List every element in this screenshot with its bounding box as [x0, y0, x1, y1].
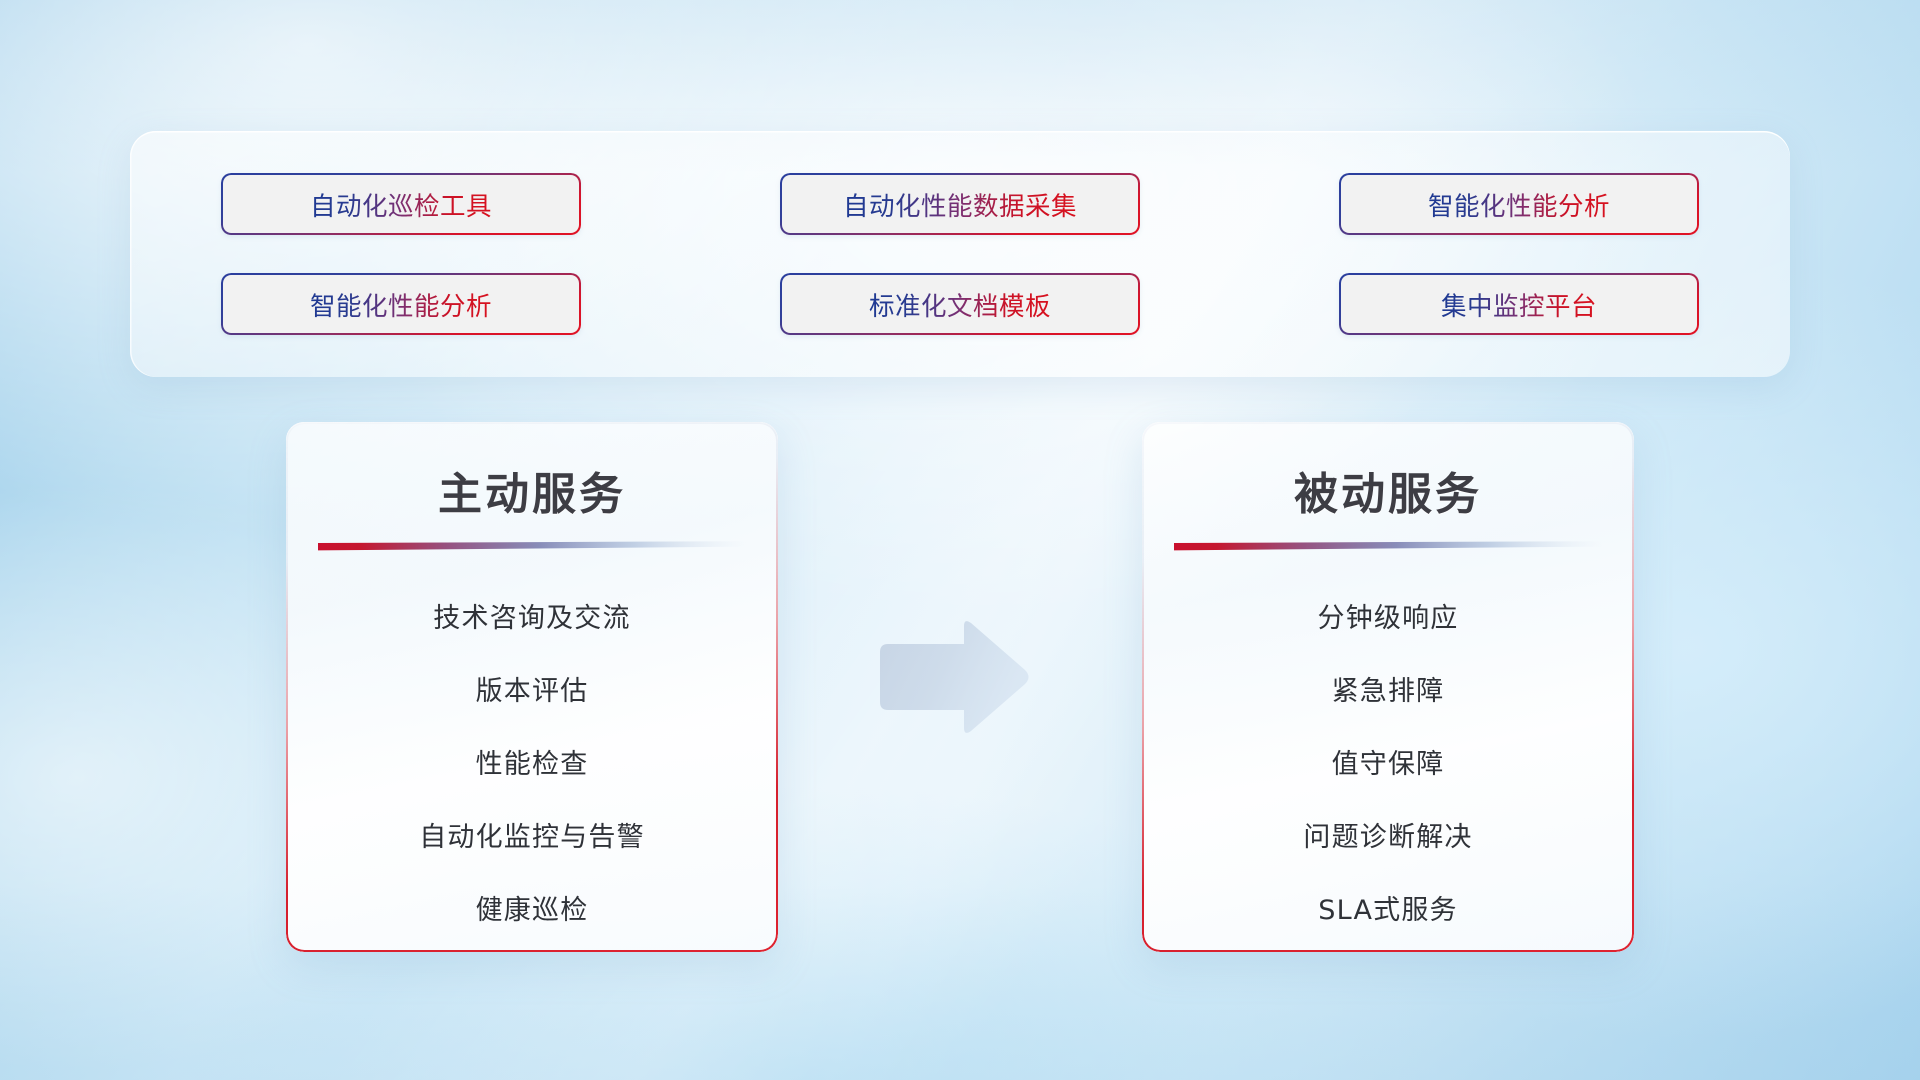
card-item-list: 分钟级响应 紧急排障 值守保障 问题诊断解决 SLA式服务 [1142, 582, 1634, 947]
capability-button-grid: 自动化巡检工具 自动化性能数据采集 智能化性能分析 智能化性能分析 标准化文档模… [221, 173, 1699, 335]
card-item-list: 技术咨询及交流 版本评估 性能检查 自动化监控与告警 健康巡检 [286, 582, 778, 947]
card-list-item: SLA式服务 [1318, 874, 1457, 947]
card-list-item: 值守保障 [1332, 728, 1445, 801]
capability-button-1[interactable]: 自动化巡检工具 [221, 173, 581, 235]
capability-button-label: 标准化文档模板 [869, 286, 1051, 323]
service-card-passive: 被动服务 分钟级响应 紧急排障 值守保障 问题诊断解决 SLA式服务 [1142, 422, 1634, 952]
capability-button-label: 集中监控平台 [1441, 286, 1597, 323]
card-title-divider [318, 540, 746, 551]
card-list-item: 紧急排障 [1332, 655, 1445, 728]
card-list-item: 健康巡检 [476, 874, 589, 947]
card-list-item: 技术咨询及交流 [433, 582, 630, 655]
capability-panel: 自动化巡检工具 自动化性能数据采集 智能化性能分析 智能化性能分析 标准化文档模… [130, 131, 1790, 377]
capability-button-4[interactable]: 智能化性能分析 [221, 273, 581, 335]
capability-button-label: 自动化巡检工具 [310, 186, 492, 223]
card-title-divider [1174, 540, 1602, 551]
capability-button-2[interactable]: 自动化性能数据采集 [780, 173, 1140, 235]
capability-button-6[interactable]: 集中监控平台 [1339, 273, 1699, 335]
capability-button-label: 智能化性能分析 [310, 286, 492, 323]
card-list-item: 性能检查 [476, 728, 589, 801]
card-list-item: 分钟级响应 [1318, 582, 1459, 655]
capability-button-label: 自动化性能数据采集 [843, 186, 1077, 223]
service-card-active: 主动服务 技术咨询及交流 版本评估 性能检查 自动化监控与告警 健康巡检 [286, 422, 778, 952]
capability-button-3[interactable]: 智能化性能分析 [1339, 173, 1699, 235]
card-list-item: 版本评估 [476, 655, 589, 728]
flow-arrow-right-icon [872, 618, 1032, 738]
card-list-item: 自动化监控与告警 [419, 801, 645, 874]
capability-button-5[interactable]: 标准化文档模板 [780, 273, 1140, 335]
card-title: 主动服务 [286, 458, 778, 522]
card-title: 被动服务 [1142, 458, 1634, 522]
card-list-item: 问题诊断解决 [1303, 801, 1472, 874]
capability-button-label: 智能化性能分析 [1428, 186, 1610, 223]
